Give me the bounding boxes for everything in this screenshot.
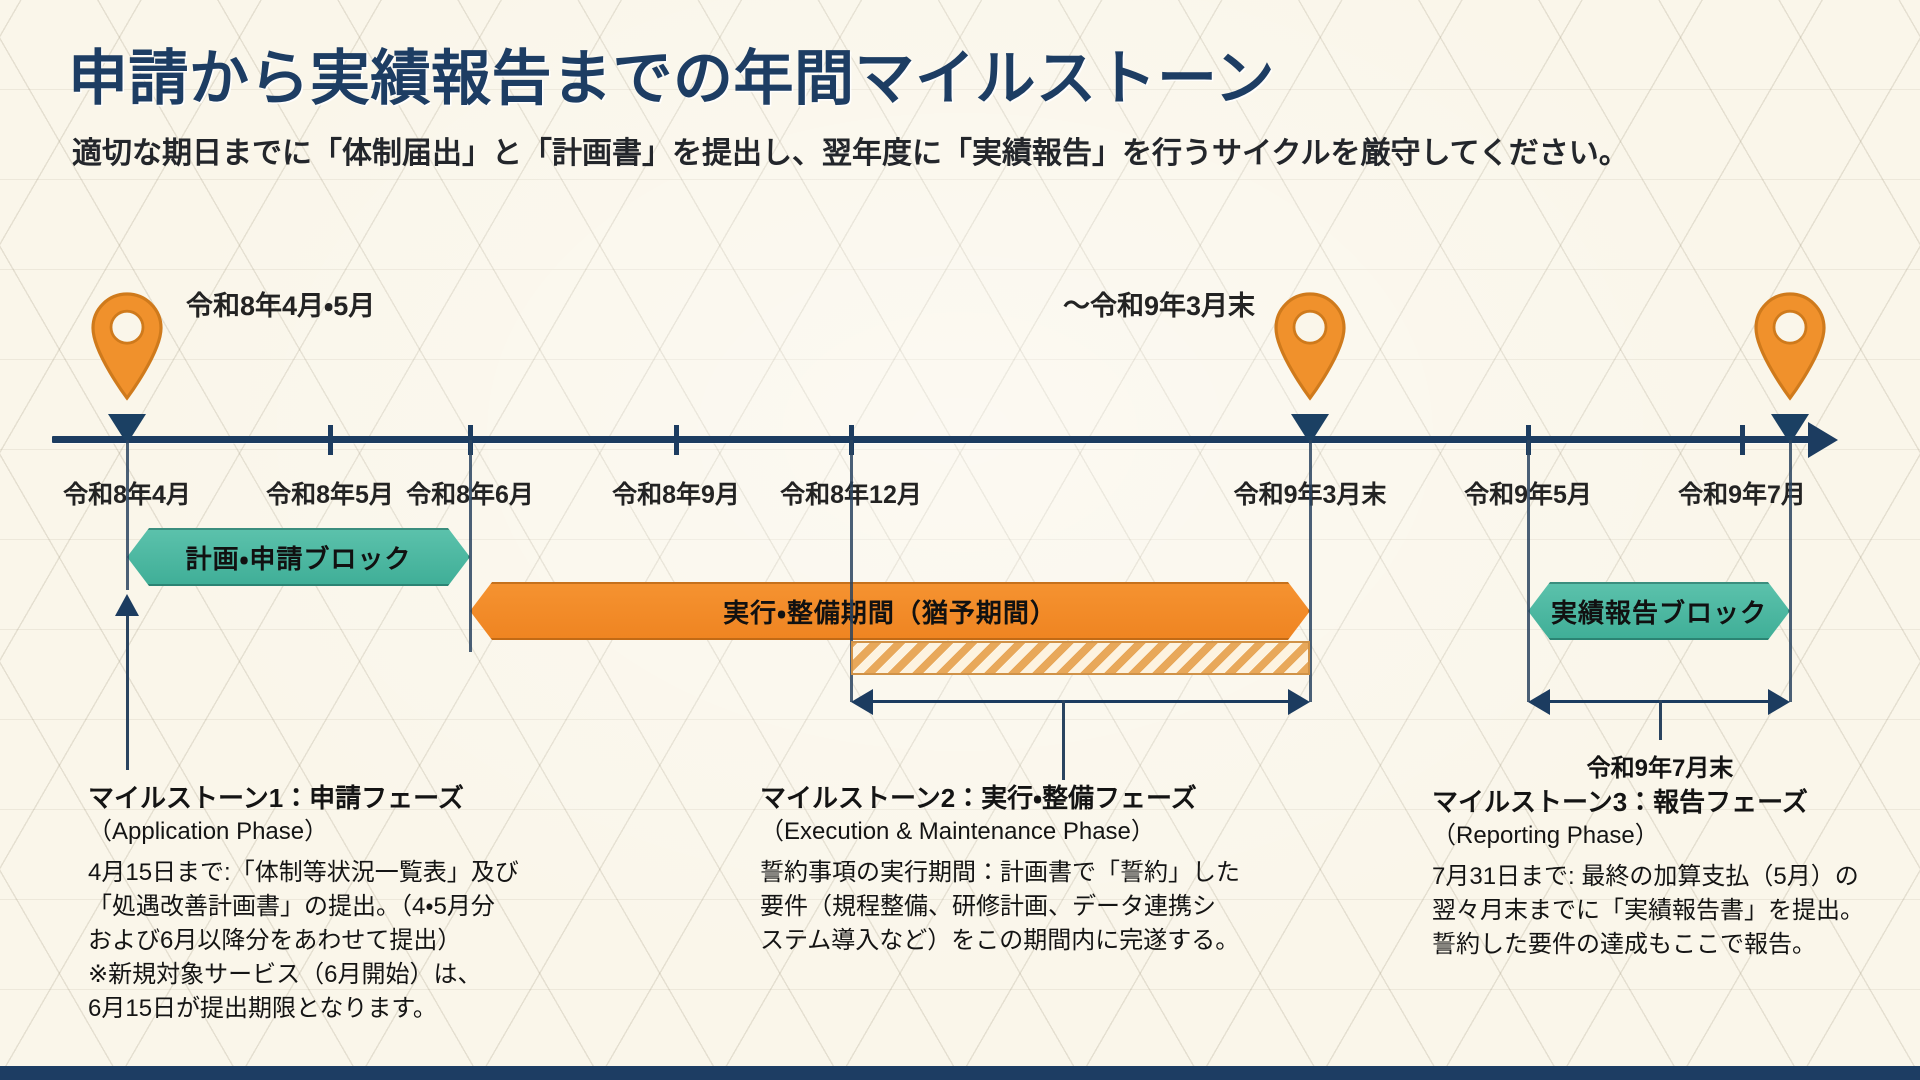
milestone-1-connector-arrow-icon [115, 594, 139, 616]
block-reporting[interactable]: 実績報告ブロック [1528, 582, 1790, 640]
label-reiwa9-july-end: 令和9年7月末 [1587, 748, 1734, 783]
milestone-3-subtitle: （Reporting Phase） [1432, 815, 1659, 850]
page-title: 申請から実績報告までの年間マイルストーン [68, 30, 1275, 117]
milestone-3-body: 7月31日まで: 最終の加算支払（5月）の翌々月末までに「実績報告書」を提出。誓… [1432, 860, 1864, 962]
span-reporting-arrow-left-icon [1528, 689, 1550, 715]
pin-reporting-icon [1749, 290, 1831, 402]
pin-application-label: 令和8年4月・5月 [186, 284, 375, 323]
pin-execution-label: 〜令和9年3月末 [1063, 284, 1255, 323]
milestone-2-body: 誓約事項の実行期間：計画書で「誓約」した要件（規程整備、研修計画、データ連携シス… [760, 856, 1240, 958]
milestone-1-body-line: ※新規対象サービス（6月開始）は、 [88, 958, 519, 992]
axis-tick-label: 令和8年9月 [612, 475, 740, 511]
axis-tick [1740, 425, 1745, 455]
axis-tick [328, 425, 333, 455]
block-execution[interactable]: 実行・整備期間（猶予期間） [470, 582, 1310, 640]
axis-tick-label: 令和9年7月 [1678, 475, 1806, 511]
milestone-1-subtitle: （Application Phase） [88, 811, 328, 846]
milestone-2-body-line: 要件（規程整備、研修計画、データ連携シ [760, 890, 1240, 924]
timeline-axis-arrow-icon [1808, 422, 1838, 458]
axis-tick [674, 425, 679, 455]
milestone-1-body-line: および6月以降分をあわせて提出） [88, 924, 519, 958]
milestone-3-title: マイルストーン3：報告フェーズ [1432, 782, 1808, 819]
infographic-stage: 申請から実績報告までの年間マイルストーン 適切な期日までに「体制届出」と「計画書… [0, 0, 1920, 1080]
timeline-axis [52, 436, 1822, 443]
milestone-1-body-line: 「処遇改善計画書」の提出。（4・5月分 [88, 890, 519, 924]
milestone-3-body-line: 翌々月末までに「実績報告書」を提出。 [1432, 894, 1864, 928]
span-execution-line [861, 700, 1300, 703]
axis-guide-line [126, 440, 129, 590]
axis-guide-line [1527, 440, 1530, 702]
milestone-2-subtitle: （Execution & Maintenance Phase） [760, 811, 1155, 846]
span-execution-arrow-left-icon [851, 689, 873, 715]
milestone-2-body-line: 誓約事項の実行期間：計画書で「誓約」した [760, 856, 1240, 890]
milestone-1-body-line: 4月15日まで:「体制等状況一覧表」及び [88, 856, 519, 890]
span-execution-drop-line [1062, 700, 1065, 780]
span-reporting-drop-line [1659, 700, 1662, 740]
milestone-1-title: マイルストーン1：申請フェーズ [88, 778, 464, 815]
span-reporting-arrow-right-icon [1768, 689, 1790, 715]
page-subtitle: 適切な期日までに「体制届出」と「計画書」を提出し、翌年度に「実績報告」を行うサイ… [72, 128, 1629, 172]
milestone-3-body-line: 7月31日まで: 最終の加算支払（5月）の [1432, 860, 1864, 894]
pin-execution-icon [1269, 290, 1351, 402]
milestone-3-body-line: 誓約した要件の達成もここで報告。 [1432, 928, 1864, 962]
axis-guide-line [469, 440, 472, 652]
milestone-1-connector [126, 600, 129, 770]
milestone-1-body: 4月15日まで:「体制等状況一覧表」及び「処遇改善計画書」の提出。（4・5月分お… [88, 856, 519, 1026]
pin-application-icon [86, 290, 168, 402]
milestone-2-title: マイルストーン2：実行・整備フェーズ [760, 778, 1197, 815]
span-execution-arrow-right-icon [1288, 689, 1310, 715]
axis-tick-label: 令和8年5月 [266, 475, 394, 511]
block-planning[interactable]: 計画・申請ブロック [127, 528, 470, 586]
grace-period-hatch [851, 641, 1310, 675]
milestone-2-body-line: ステム導入など）をこの期間内に完遂する。 [760, 924, 1240, 958]
milestone-1-body-line: 6月15日が提出期限となります。 [88, 992, 519, 1026]
axis-guide-line [1789, 440, 1792, 702]
